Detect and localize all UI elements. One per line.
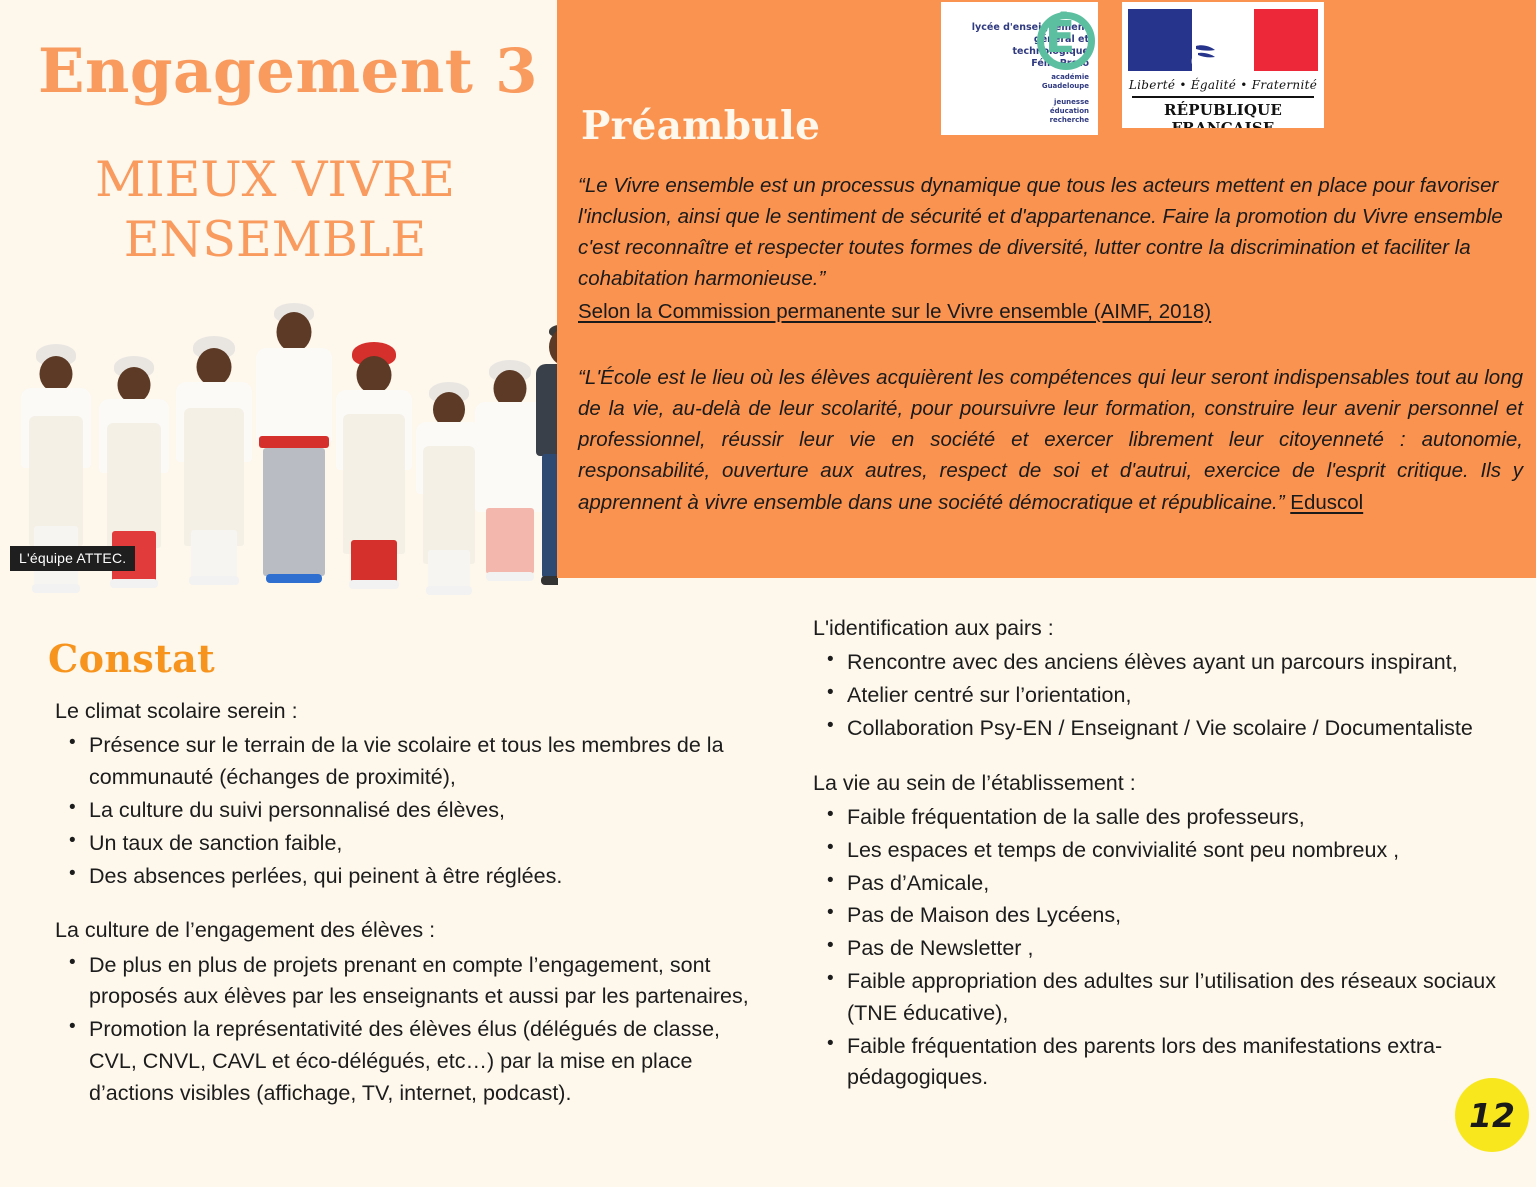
page-number-badge: 12 [1455, 1078, 1529, 1152]
preamble-source-2[interactable]: Eduscol [1290, 491, 1363, 514]
list-item: Faible appropriation des adultes sur l’u… [813, 966, 1503, 1030]
group-title: Le climat scolaire serein : [55, 695, 755, 727]
preamble-heading: Préambule [581, 103, 820, 149]
list-item: Des absences perlées, qui peinent à être… [55, 861, 755, 893]
photo-person [252, 300, 336, 596]
lycee-logo-ministry-line3: recherche [989, 116, 1089, 125]
constat-group: Le climat scolaire serein : Présence sur… [55, 695, 755, 892]
bullet-list: De plus en plus de projets prenant en co… [55, 950, 755, 1110]
photo-person [332, 314, 416, 596]
rf-devise: Liberté • Égalité • Fraternité [1122, 78, 1324, 92]
preamble-paragraph-1: “Le Vivre ensemble est un processus dyna… [578, 170, 1518, 295]
education-nationale-e-letter: É [1045, 16, 1075, 60]
page-title: Engagement 3 [38, 40, 538, 104]
bullet-list: Faible fréquentation de la salle des pro… [813, 802, 1503, 1094]
constat-group: La culture de l’engagement des élèves : … [55, 914, 755, 1109]
list-item: Collaboration Psy-EN / Enseignant / Vie … [813, 713, 1503, 745]
preamble-paragraph-2-text: “L'École est le lieu où les élèves acqui… [578, 366, 1523, 514]
constat-left-column: Le climat scolaire serein : Présence sur… [55, 695, 755, 1132]
list-item: Rencontre avec des anciens élèves ayant … [813, 647, 1503, 679]
list-item: La culture du suivi personnalisé des élè… [55, 795, 755, 827]
lycee-logo-academie: académie Guadeloupe [989, 73, 1089, 91]
rf-name: RÉPUBLIQUE FRANÇAISE [1122, 101, 1324, 128]
constat-right-column: L'identification aux pairs : Rencontre a… [813, 612, 1503, 1116]
rf-divider [1132, 96, 1314, 98]
group-title: La vie au sein de l’établissement : [813, 767, 1503, 799]
list-item: Faible fréquentation des parents lors de… [813, 1031, 1503, 1095]
constat-group: La vie au sein de l’établissement : Faib… [813, 767, 1503, 1095]
page-subtitle: MIEUX VIVRE ENSEMBLE [40, 150, 510, 270]
constat-heading: Constat [48, 636, 215, 681]
list-item: Faible fréquentation de la salle des pro… [813, 802, 1503, 834]
slide-page: Engagement 3 MIEUX VIVRE ENSEMBLE [0, 0, 1536, 1187]
list-item: Pas de Maison des Lycéens, [813, 900, 1503, 932]
lycee-logo-academie-line1: académie [989, 73, 1089, 82]
republique-francaise-logo: Liberté • Égalité • Fraternité RÉPUBLIQU… [1122, 2, 1324, 128]
photo-person [536, 306, 558, 596]
lycee-logo-academie-line2: Guadeloupe [989, 82, 1089, 91]
photo-caption: L'équipe ATTEC. [10, 546, 135, 571]
list-item: Atelier centré sur l’orientation, [813, 680, 1503, 712]
photo-person [172, 306, 256, 596]
group-title: L'identification aux pairs : [813, 612, 1503, 644]
lycee-logo-ministry: jeunesse éducation recherche [989, 98, 1089, 126]
list-item: Promotion la représentativité des élèves… [55, 1014, 755, 1109]
lycee-logo-ministry-line1: jeunesse [989, 98, 1089, 107]
lycee-logo-ministry-line2: éducation [989, 107, 1089, 116]
list-item: Un taux de sanction faible, [55, 828, 755, 860]
preamble-source-1[interactable]: Selon la Commission permanente sur le Vi… [578, 300, 1211, 324]
constat-group: L'identification aux pairs : Rencontre a… [813, 612, 1503, 745]
list-item: Pas d’Amicale, [813, 868, 1503, 900]
bullet-list: Présence sur le terrain de la vie scolai… [55, 730, 755, 892]
preamble-paragraph-2: “L'École est le lieu où les élèves acqui… [578, 362, 1523, 518]
list-item: Pas de Newsletter , [813, 933, 1503, 965]
logo-strip: lycée d'enseignement général et technolo… [941, 2, 1324, 135]
bullet-list: Rencontre avec des anciens élèves ayant … [813, 647, 1503, 744]
list-item: De plus en plus de projets prenant en co… [55, 950, 755, 1014]
lycee-felix-proto-logo: lycée d'enseignement général et technolo… [941, 2, 1098, 135]
list-item: Les espaces et temps de convivialité son… [813, 835, 1503, 867]
group-title: La culture de l’engagement des élèves : [55, 914, 755, 946]
list-item: Présence sur le terrain de la vie scolai… [55, 730, 755, 794]
marianne-profile-icon [1182, 10, 1252, 70]
